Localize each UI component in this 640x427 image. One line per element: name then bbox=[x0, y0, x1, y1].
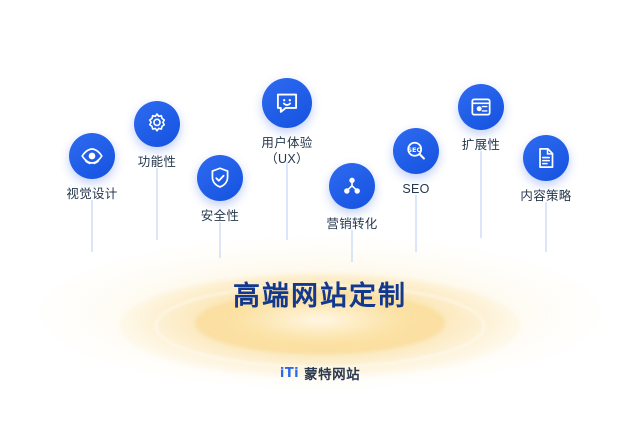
node-content-strategy[interactable]: 内容策略 bbox=[496, 135, 596, 204]
content-strategy-bubble[interactable] bbox=[523, 135, 569, 181]
document-icon bbox=[533, 145, 559, 171]
eye-icon bbox=[79, 143, 105, 169]
seo-icon: SEO bbox=[403, 138, 429, 164]
node-label: 营销转化 bbox=[302, 216, 402, 232]
page-title: 高端网站定制 bbox=[0, 274, 640, 313]
infographic-canvas: 视觉设计 功能性 安全性 用户体验 （UX） bbox=[0, 0, 640, 427]
share-nodes-icon bbox=[339, 173, 365, 199]
svg-text:SEO: SEO bbox=[407, 146, 422, 154]
smile-chat-icon bbox=[273, 89, 301, 117]
node-label: 内容策略 bbox=[496, 188, 596, 204]
node-label: 视觉设计 bbox=[42, 186, 142, 202]
scalability-bubble[interactable] bbox=[458, 84, 504, 130]
user-experience-bubble[interactable] bbox=[262, 78, 312, 128]
window-chart-icon bbox=[468, 94, 494, 120]
shield-icon bbox=[207, 165, 233, 191]
node-user-experience[interactable]: 用户体验 （UX） bbox=[237, 78, 337, 167]
gear-icon bbox=[144, 111, 170, 137]
brand-logo-mark: iTi bbox=[280, 366, 299, 381]
functionality-bubble[interactable] bbox=[134, 101, 180, 147]
node-label: SEO bbox=[366, 181, 466, 197]
brand-lockup: iTi 蒙特网站 bbox=[0, 363, 640, 383]
brand-name: 蒙特网站 bbox=[304, 363, 360, 383]
node-label: 安全性 bbox=[170, 208, 270, 224]
